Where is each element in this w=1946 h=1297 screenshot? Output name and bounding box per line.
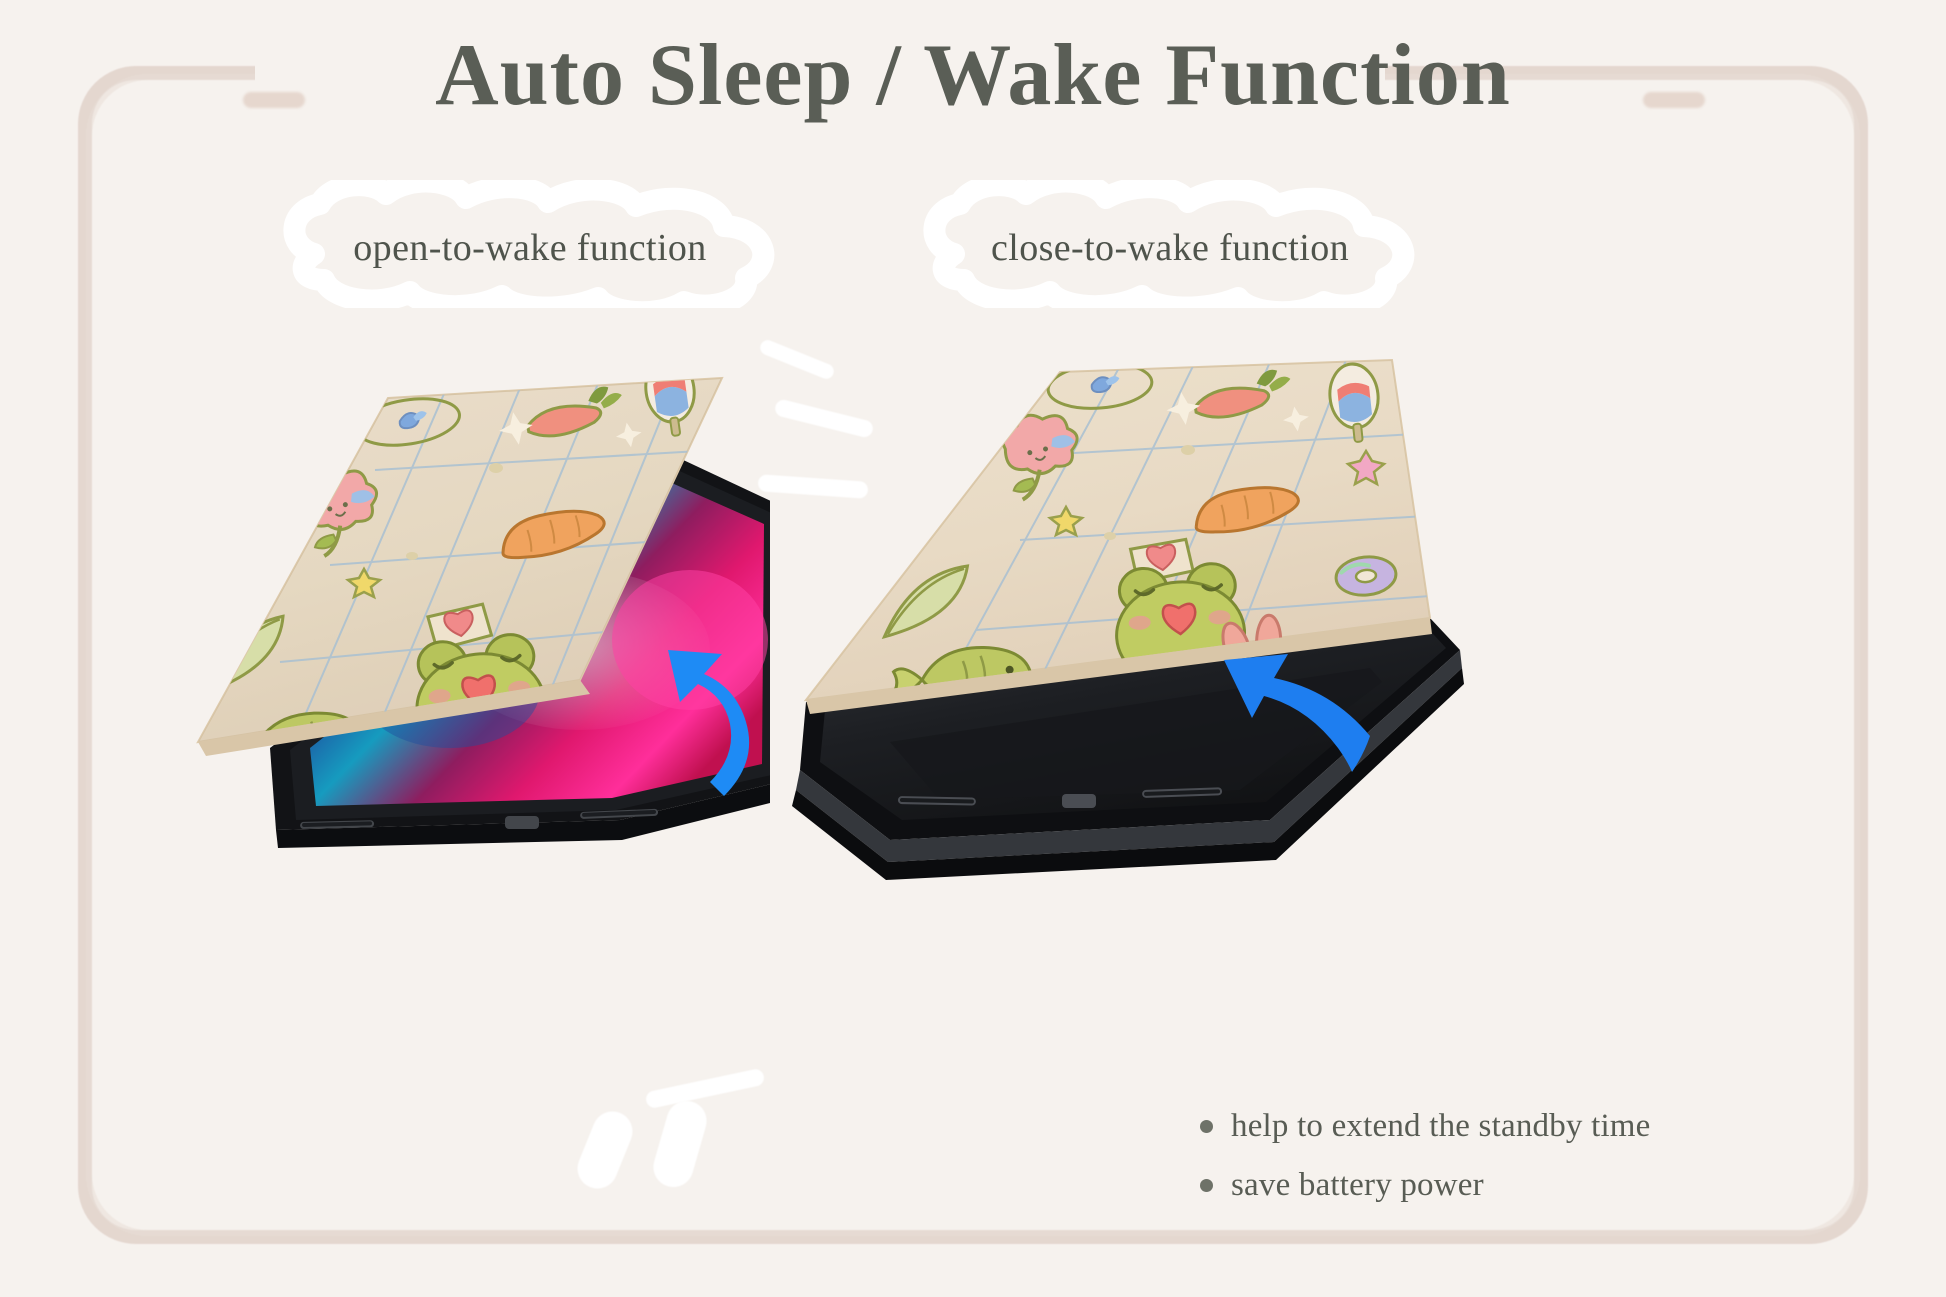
product-open-to-wake xyxy=(150,350,770,870)
speed-line-icon xyxy=(571,1105,638,1194)
product-close-to-wake xyxy=(770,350,1470,890)
speed-line-icon xyxy=(649,1096,712,1192)
bullet-dot-icon xyxy=(1200,1179,1213,1192)
tablet-closing-illustration xyxy=(770,350,1470,890)
label-bubble-close-text: close-to-wake function xyxy=(920,180,1420,308)
bullet-dot-icon xyxy=(1200,1120,1213,1133)
tablet-open-illustration xyxy=(150,350,770,870)
label-bubble-close-to-wake: close-to-wake function xyxy=(920,180,1420,308)
benefit-text: help to extend the standby time xyxy=(1231,1108,1651,1145)
benefits-list: help to extend the standby time save bat… xyxy=(1200,1108,1651,1226)
list-item: help to extend the standby time xyxy=(1200,1108,1651,1145)
page-title: Auto Sleep / Wake Function xyxy=(0,30,1946,122)
benefit-text: save battery power xyxy=(1231,1167,1484,1204)
label-bubble-open-to-wake: open-to-wake function xyxy=(280,180,780,308)
label-bubble-open-text: open-to-wake function xyxy=(280,180,780,308)
list-item: save battery power xyxy=(1200,1167,1651,1204)
speed-line-icon xyxy=(645,1068,766,1110)
